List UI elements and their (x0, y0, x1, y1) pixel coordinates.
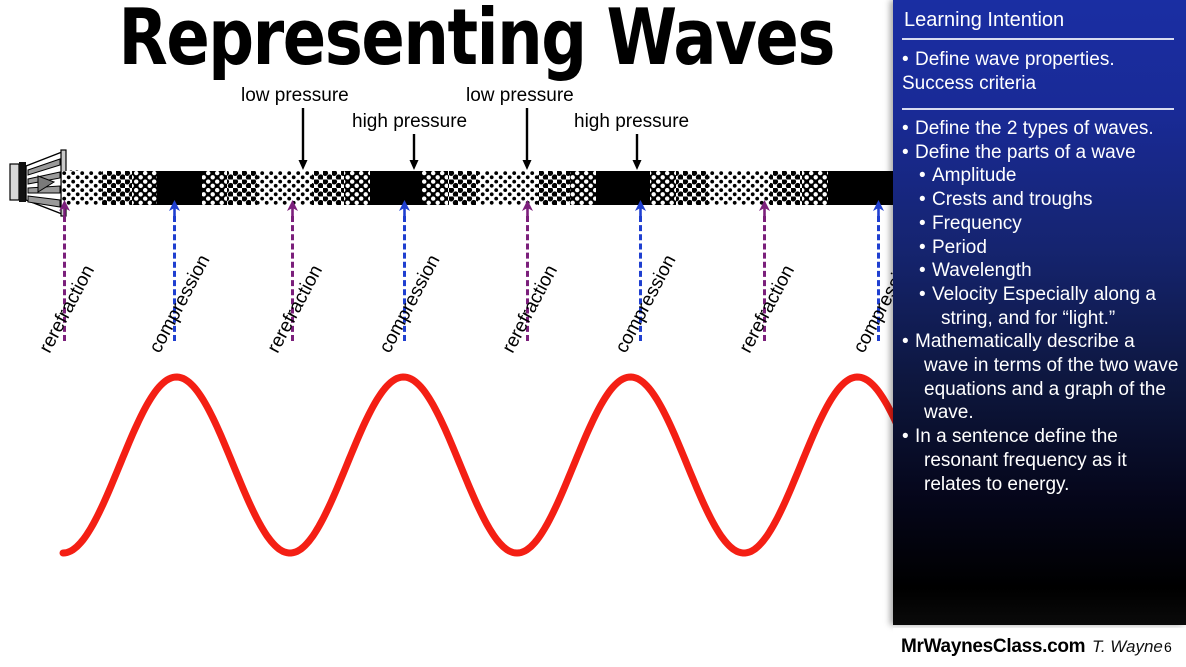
pressure-arrow-2 (521, 108, 533, 170)
pressure-label-0: low pressure (241, 86, 349, 105)
pressure-arrow-3 (631, 134, 643, 170)
pressure-arrow-0 (297, 108, 309, 170)
panel-intention: Define wave properties. Success criteria (902, 48, 1180, 95)
marker-arrow-rarefaction-2 (286, 200, 299, 218)
pressure-label-1: high pressure (352, 112, 467, 131)
panel-heading: Learning Intention (904, 8, 1064, 32)
criteria-item-8-continued: wave in terms of the two wave equations … (902, 354, 1180, 425)
success-criteria-list: Define the 2 types of waves.Define the p… (902, 117, 1180, 496)
marker-arrow-rarefaction-6 (758, 200, 771, 218)
pressure-arrow-1 (408, 134, 420, 170)
marker-label-rarefaction-0: rerefraction (36, 262, 98, 356)
criteria-item-2: Amplitude (902, 164, 1180, 188)
pressure-label-3: high pressure (574, 112, 689, 131)
marker-arrow-compression-5 (634, 200, 647, 218)
marker-arrow-compression-3 (398, 200, 411, 218)
page-title: Representing Waves (119, 0, 798, 86)
marker-arrow-rarefaction-4 (521, 200, 534, 218)
criteria-item-5: Period (902, 236, 1180, 260)
criteria-item-8: Mathematically describe a (902, 330, 1180, 354)
marker-label-rarefaction-2: rerefraction (264, 262, 326, 356)
criteria-item-1: Define the parts of a wave (902, 141, 1180, 165)
success-criteria-heading: Success criteria (902, 72, 1180, 96)
criteria-item-4: Frequency (902, 212, 1180, 236)
marker-label-rarefaction-6: rerefraction (736, 262, 798, 356)
slide-canvas: Representing Waves (0, 0, 1186, 667)
marker-label-compression-1: compression (146, 252, 213, 356)
footer-brand[interactable]: MrWaynesClass.com (901, 636, 1085, 658)
marker-arrow-rarefaction-0 (58, 200, 71, 218)
footer-author: T. Wayne (1092, 637, 1163, 657)
criteria-item-0: Define the 2 types of waves. (902, 117, 1180, 141)
criteria-item-9: In a sentence define the (902, 425, 1180, 449)
marker-label-compression-3: compression (376, 252, 443, 356)
marker-arrow-compression-7 (872, 200, 885, 218)
panel-divider-top (902, 38, 1174, 40)
intention-bullet: Define wave properties. (902, 48, 1180, 72)
criteria-item-7-continued: string, and for “light.” (902, 307, 1180, 331)
marker-label-rarefaction-4: rerefraction (499, 262, 561, 356)
slide-footer: MrWaynesClass.com T. Wayne 6 (893, 628, 1186, 667)
marker-label-compression-5: compression (612, 252, 679, 356)
criteria-item-9-continued: resonant frequency as it relates to ener… (902, 449, 1180, 496)
panel-divider-bottom (902, 108, 1174, 110)
marker-arrow-compression-1 (168, 200, 181, 218)
criteria-item-7: Velocity Especially along a (902, 283, 1180, 307)
learning-intention-panel: Learning Intention Define wave propertie… (893, 0, 1186, 625)
criteria-item-3: Crests and troughs (902, 188, 1180, 212)
footer-page-number: 6 (1164, 639, 1172, 655)
pressure-label-2: low pressure (466, 86, 574, 105)
criteria-item-6: Wavelength (902, 259, 1180, 283)
